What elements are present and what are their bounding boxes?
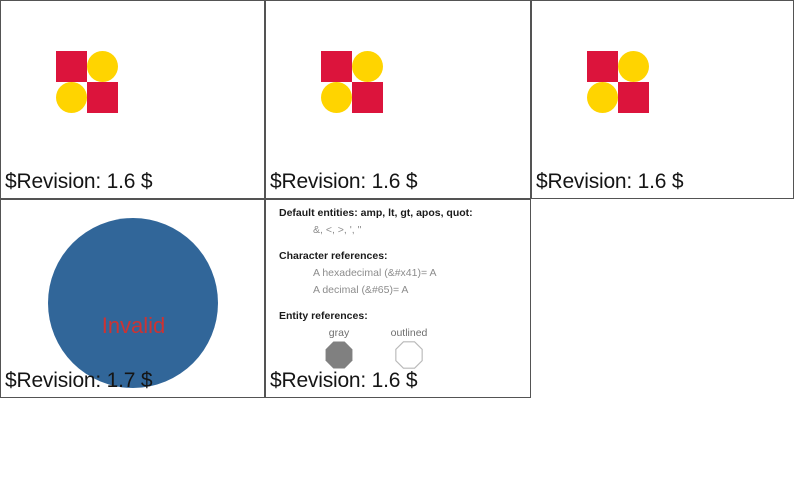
octagon-outlined-cell: outlined <box>375 326 443 374</box>
character-references-heading: Character references: <box>279 249 524 263</box>
panel-entities: Default entities: amp, lt, gt, apos, quo… <box>265 199 531 398</box>
entity-references-heading: Entity references: <box>279 309 524 323</box>
revision-caption: $Revision: 1.6 $ <box>270 369 417 393</box>
revision-caption: $Revision: 1.6 $ <box>536 170 683 194</box>
spacer <box>279 240 524 249</box>
four-square-logo <box>321 51 383 113</box>
revision-caption: $Revision: 1.6 $ <box>270 170 417 194</box>
spacer <box>279 300 524 309</box>
page-canvas: $Revision: 1.6 $ $Revision: 1.6 $ $Revis… <box>0 0 800 480</box>
octagon-outlined-label: outlined <box>375 326 443 340</box>
default-entities-heading: Default entities: amp, lt, gt, apos, quo… <box>279 206 524 220</box>
revision-caption: $Revision: 1.7 $ <box>5 369 152 393</box>
panel-logo-3: $Revision: 1.6 $ <box>531 0 794 199</box>
panel-logo-1: $Revision: 1.6 $ <box>0 0 265 199</box>
panel-logo-2: $Revision: 1.6 $ <box>265 0 531 199</box>
entities-block: Default entities: amp, lt, gt, apos, quo… <box>279 206 524 378</box>
four-square-logo <box>587 51 649 113</box>
character-reference-hex: A hexadecimal (&#x41)= A <box>279 266 524 281</box>
blue-circle-shape <box>48 218 218 388</box>
panel-invalid-circle: Invalid $Revision: 1.7 $ <box>0 199 265 398</box>
octagon-gray-cell: gray <box>305 326 373 374</box>
revision-caption: $Revision: 1.6 $ <box>5 170 152 194</box>
octagon-gray-label: gray <box>305 326 373 340</box>
character-reference-decimal: A decimal (&#65)= A <box>279 283 524 298</box>
four-square-logo <box>56 51 118 113</box>
default-entities-values: &, <, >, ', " <box>279 223 524 238</box>
